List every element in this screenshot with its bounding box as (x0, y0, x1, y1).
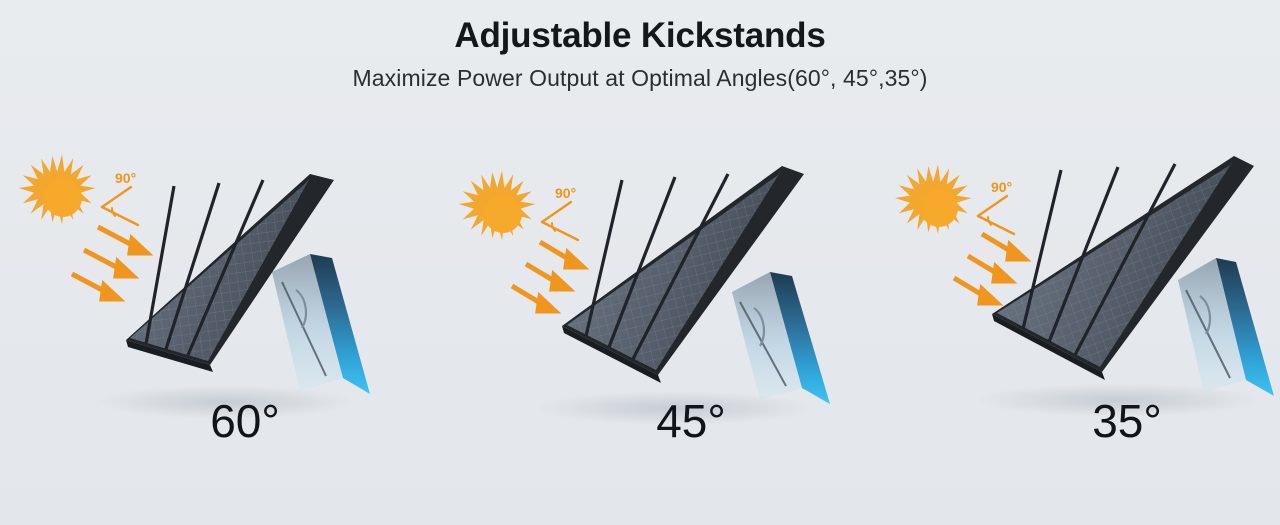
sun-icon (459, 170, 536, 240)
sun-ray-arrow (540, 242, 583, 267)
sun-ray-arrow (982, 234, 1025, 259)
sun-icon (895, 164, 972, 234)
panel-angle-label-45: 45° (452, 398, 904, 444)
angle-mark-90 (978, 196, 1014, 234)
angle-mark-label: 90° (115, 170, 136, 186)
sun-ray-arrow (98, 227, 147, 253)
sun-ray-arrow (526, 264, 569, 289)
panel-angle-label-35: 35° (890, 398, 1280, 444)
angle-mark-label: 90° (991, 179, 1012, 195)
angle-mark-label: 90° (555, 185, 576, 201)
sun-ray-arrow (72, 274, 119, 299)
sun-icon (19, 154, 96, 224)
figure-panel-60: 90° (10, 150, 436, 525)
sun-ray-arrow (954, 278, 997, 303)
angle-mark-90 (542, 202, 578, 240)
kickstand (272, 254, 370, 394)
kickstand (732, 272, 830, 404)
sun-disc (484, 195, 522, 233)
sun-ray-arrows (512, 242, 583, 311)
sun-ray-arrows (72, 227, 147, 299)
promo-graphic: Adjustable Kickstands Maximize Power Out… (0, 0, 1280, 525)
sun-ray-arrow (84, 250, 133, 276)
figure-panel-45: 90° (452, 150, 878, 525)
page-subtitle: Maximize Power Output at Optimal Angles(… (0, 65, 1280, 91)
header: Adjustable Kickstands Maximize Power Out… (0, 0, 1280, 92)
sun-ray-arrow (968, 256, 1011, 281)
angle-mark-90 (102, 187, 138, 225)
page-title: Adjustable Kickstands (0, 16, 1280, 55)
panel-angle-label-60: 60° (10, 398, 458, 444)
sun-disc (920, 189, 958, 227)
figure-row: 90° (0, 150, 1280, 525)
sun-ray-arrow (512, 286, 555, 311)
sun-ray-arrows (954, 234, 1025, 303)
kickstand (1178, 258, 1274, 396)
figure-panel-35: 90° (890, 150, 1280, 525)
sun-disc (44, 179, 82, 217)
